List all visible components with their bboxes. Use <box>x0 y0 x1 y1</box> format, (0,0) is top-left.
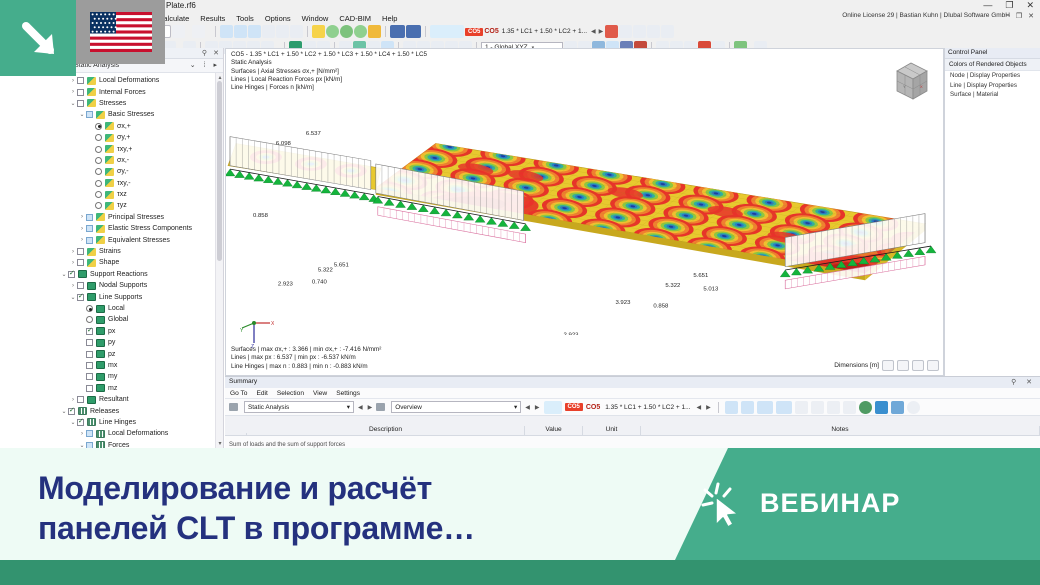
find-icon[interactable] <box>725 401 738 414</box>
surf-icon <box>96 236 105 244</box>
import-icon[interactable] <box>827 401 840 414</box>
select-objects-icon[interactable] <box>390 25 405 38</box>
control-panel-title-text: Control Panel <box>948 49 987 56</box>
tree-item[interactable]: px <box>58 326 215 337</box>
collapse-rows-icon[interactable] <box>776 401 792 414</box>
result-value-label: 3.923 <box>615 301 630 307</box>
summary-combination-prev-icon[interactable]: ◀ <box>696 404 703 411</box>
tree-item[interactable]: σx,- <box>58 155 215 166</box>
surf-icon <box>105 122 114 130</box>
tree-item-label: px <box>108 328 115 335</box>
tree-item-label: Global <box>108 316 128 323</box>
tree-radio[interactable] <box>95 202 102 209</box>
tree-item[interactable]: ›Elastic Stress Components <box>58 223 215 234</box>
tree-item-label: Internal Forces <box>99 89 146 96</box>
info-icon[interactable] <box>907 401 920 414</box>
document-window-controls[interactable]: − ❐ ✕ <box>1006 12 1036 20</box>
result-value-label: 2.923 <box>564 333 579 335</box>
tree-radio[interactable] <box>95 134 102 141</box>
tree-radio[interactable] <box>95 168 102 175</box>
tree-item-label: mx <box>108 362 117 369</box>
chevron-down-icon[interactable]: ⌄ <box>60 271 68 278</box>
export-icon[interactable] <box>811 401 824 414</box>
chevron-right-icon[interactable]: › <box>69 397 77 403</box>
summary-combination-expression[interactable]: 1.35 * LC1 + 1.50 * LC2 + 1... <box>603 404 692 411</box>
tree-item-label: Shape <box>99 259 119 266</box>
summary-combination-badge: CO5 <box>565 403 583 411</box>
viewport-footer-line-2: Line Hinges | max n : 0.883 | min n : -0… <box>231 363 381 371</box>
chevron-right-icon[interactable]: › <box>69 283 77 289</box>
home-view-icon[interactable] <box>897 360 909 371</box>
tree-item-label: σy,- <box>117 168 129 175</box>
tree-item-label: Equivalent Stresses <box>108 237 170 244</box>
tree-item[interactable]: ⌄Stresses <box>58 98 215 109</box>
surf-icon <box>96 225 105 233</box>
tree-radio[interactable] <box>95 123 102 130</box>
result-tables-icon[interactable] <box>368 25 381 38</box>
load-case-swatch[interactable] <box>544 401 562 414</box>
tree-item[interactable]: py <box>58 337 215 348</box>
printout-report-icon[interactable] <box>290 25 303 38</box>
overview-prev-icon[interactable]: ◀ <box>524 404 531 411</box>
tree-checkbox[interactable] <box>86 385 93 392</box>
summary-panel: Summary ⚲ ✕ Go To Edit Selection View Se… <box>225 376 1040 448</box>
svg-text:X: X <box>920 84 923 89</box>
analysis-next-icon[interactable]: ▶ <box>367 404 374 411</box>
overview-icon <box>376 403 385 411</box>
redo-icon[interactable] <box>192 25 205 38</box>
tree-item[interactable]: mx <box>58 360 215 371</box>
isolines-icon[interactable] <box>633 25 646 38</box>
sup-icon <box>96 361 105 369</box>
tree-item[interactable]: ⌄Basic Stresses <box>58 109 215 120</box>
sup-icon <box>87 293 96 301</box>
menu-item-options[interactable]: Options <box>265 14 291 23</box>
summary-col-value: Value <box>525 426 583 435</box>
viewport-header-line-0: CO5 - 1.35 * LC1 + 1.50 * LC2 + 1.50 * L… <box>231 51 427 59</box>
control-panel-item-node[interactable]: Node | Display Properties <box>945 71 1040 81</box>
banner-badge: ВЕБИНАР <box>760 488 900 519</box>
tree-item-label: Nodal Supports <box>99 282 147 289</box>
tree-item-label: my <box>108 373 117 380</box>
tree-item-label: Releases <box>90 408 119 415</box>
summary-menu-edit[interactable]: Edit <box>256 390 267 397</box>
toolbar-separator <box>425 26 426 37</box>
tree-item-label: Resultant <box>99 396 129 403</box>
axis-triad-icon: X Y Z <box>240 317 274 349</box>
surf-icon <box>96 213 105 221</box>
tree-checkbox[interactable] <box>86 339 93 346</box>
summary-menu-selection[interactable]: Selection <box>277 390 304 397</box>
tree-item[interactable]: ⌄Releases <box>58 405 215 416</box>
combination-expression[interactable]: 1.35 * LC1 + 1.50 * LC2 + 1... <box>500 28 589 35</box>
tree-checkbox[interactable] <box>86 111 93 118</box>
model-viewport[interactable]: CO5 - 1.35 * LC1 + 1.50 * LC2 + 1.50 * L… <box>225 48 944 376</box>
control-panel-title: Control Panel <box>945 48 1040 59</box>
results-navigator-tree[interactable]: ›Local Deformations›Internal Forces⌄Stre… <box>58 73 215 448</box>
chevron-right-icon[interactable]: › <box>78 214 86 220</box>
render-view-icon[interactable] <box>234 25 247 38</box>
tree-checkbox[interactable] <box>77 282 84 289</box>
fem-plate-render[interactable]: 6.5376.0980.8582.9230.7405.3225.6515.651… <box>226 87 943 335</box>
summary-menu-view[interactable]: View <box>313 390 327 397</box>
results-on-off-icon[interactable] <box>354 25 367 38</box>
summary-title: Summary <box>229 378 257 385</box>
tree-item[interactable]: σy,+ <box>58 132 215 143</box>
summary-combination-next-icon[interactable]: ▶ <box>705 404 712 411</box>
chevron-right-icon[interactable]: › <box>78 237 86 243</box>
chevron-right-icon[interactable]: › <box>69 78 77 84</box>
summary-window-controls[interactable]: ⚲ ✕ <box>1011 378 1036 386</box>
minimize-icon[interactable]: — <box>983 0 992 11</box>
tree-checkbox[interactable] <box>77 100 84 107</box>
model-view-icon[interactable] <box>220 25 233 38</box>
tree-item[interactable]: ›Local Deformations <box>58 75 215 86</box>
menu-item-help[interactable]: Help <box>382 14 397 23</box>
tree-item[interactable]: my <box>58 371 215 382</box>
result-value-label: 6.537 <box>306 131 321 137</box>
hinge-icon <box>96 441 105 448</box>
tree-item-label: σx,- <box>117 157 129 164</box>
tree-checkbox[interactable] <box>86 430 93 437</box>
tree-radio[interactable] <box>86 305 93 312</box>
tree-item[interactable]: ›Nodal Supports <box>58 280 215 291</box>
calculate-icon[interactable] <box>326 25 339 38</box>
summary-col-notes: Notes <box>641 426 1040 435</box>
tree-checkbox[interactable] <box>77 259 84 266</box>
combination-next-icon[interactable]: ▶ <box>598 28 605 35</box>
result-value-label: 0.858 <box>653 304 668 310</box>
tree-item[interactable]: ⌄Forces <box>58 440 215 449</box>
calculate-all-icon[interactable] <box>340 25 353 38</box>
overview-select[interactable]: Overview ▾ <box>391 401 521 413</box>
result-value-label: 0.858 <box>253 213 268 219</box>
banner-bottom-bar <box>0 560 1040 585</box>
tree-item[interactable]: ⌄Line Hinges <box>58 417 215 428</box>
tree-checkbox[interactable] <box>77 419 84 426</box>
chevron-down-icon[interactable]: ⌄ <box>69 100 77 107</box>
tree-checkbox[interactable] <box>86 362 93 369</box>
chevron-down-icon[interactable]: ⌄ <box>60 408 68 415</box>
hinge-icon <box>87 418 96 426</box>
tree-item-label: Line Supports <box>99 294 142 301</box>
menu-item-results[interactable]: Results <box>200 14 225 23</box>
overview-next-icon[interactable]: ▶ <box>534 404 541 411</box>
dimensions-label: Dimensions [m] <box>834 362 879 369</box>
toolbar-separator <box>718 402 719 413</box>
tree-item[interactable]: ›Local Deformations <box>58 428 215 439</box>
tree-item-label: Basic Stresses <box>108 111 154 118</box>
combination-prev-icon[interactable]: ◀ <box>590 28 597 35</box>
sup-icon <box>87 396 96 404</box>
tree-item[interactable]: τxz <box>58 189 215 200</box>
print-icon[interactable] <box>276 25 289 38</box>
tree-item-label: Support Reactions <box>90 271 148 278</box>
viewport-header-line-1: Static Analysis <box>231 59 427 67</box>
filter-icon[interactable] <box>619 25 632 38</box>
tree-checkbox[interactable] <box>86 351 93 358</box>
control-panel-item-surface[interactable]: Surface | Material <box>945 90 1040 100</box>
summary-menu-settings[interactable]: Settings <box>336 390 360 397</box>
undo-dropdown-icon[interactable] <box>186 25 191 38</box>
tree-item[interactable]: τxy,- <box>58 178 215 189</box>
flag-panel <box>76 0 165 64</box>
chevron-right-icon[interactable]: › <box>69 260 77 266</box>
maximize-icon[interactable]: ❐ <box>1005 0 1013 11</box>
window-controls[interactable]: — ❐ ✕ <box>983 0 1034 11</box>
result-value-label: 5.322 <box>318 268 333 274</box>
promo-banner: Моделирование и расчёт панелей CLT в про… <box>0 448 1040 585</box>
cursor-click-icon <box>700 480 752 528</box>
tree-item-label: τxy,+ <box>117 146 132 153</box>
screenshot-root: D Plate.rf6 — ❐ ✕ Calculate Results Tool… <box>0 0 1040 585</box>
tree-checkbox[interactable] <box>86 328 93 335</box>
tree-item-label: σy,+ <box>117 134 130 141</box>
scroll-down-icon[interactable]: ▾ <box>217 440 223 447</box>
print-table-icon[interactable] <box>843 401 856 414</box>
load-case-icon[interactable] <box>312 25 325 38</box>
surf-icon <box>87 77 96 85</box>
tree-item[interactable]: Local <box>58 303 215 314</box>
viewport-footer-text: Surfaces | max σx,+ : 3.366 | min σx,+ :… <box>231 346 381 371</box>
analysis-icon <box>229 403 238 411</box>
scrollbar-thumb[interactable] <box>217 81 222 261</box>
viewport-footer-line-1: Lines | max px : 6.537 | min px : -6.537… <box>231 354 381 362</box>
banner-title-line-1: Моделирование и расчёт <box>38 468 658 508</box>
navigator-scrollbar[interactable]: ▴ ▾ <box>215 73 223 448</box>
summary-menu-goto[interactable]: Go To <box>230 390 247 397</box>
banner-title-line-2: панелей CLT в программе… <box>38 508 658 548</box>
surf-icon <box>105 202 114 210</box>
control-panel-item-line[interactable]: Line | Display Properties <box>945 81 1040 91</box>
tree-item-label: τxy,- <box>117 180 131 187</box>
tree-item-label: pz <box>108 351 115 358</box>
toolbar-row-primary[interactable]: CO5 CO5 1.35 * LC1 + 1.50 * LC2 + 1... ◀… <box>158 23 1040 40</box>
tree-item[interactable]: ›Resultant <box>58 394 215 405</box>
summary-toolbar-row[interactable]: Static Analysis ▾ ◀ ▶ Overview ▾ ◀ ▶ CO5… <box>225 399 1040 416</box>
result-diagram-icon[interactable] <box>661 25 674 38</box>
tree-item-label: τyz <box>117 202 127 209</box>
surf-icon <box>105 134 114 142</box>
tree-radio[interactable] <box>95 180 102 187</box>
result-value-label: 5.322 <box>665 283 680 289</box>
sup-icon <box>96 373 105 381</box>
tree-checkbox[interactable] <box>77 396 84 403</box>
axis-label-x: X <box>271 321 274 327</box>
navigator-controls[interactable]: ⌄ ⁞ ▸ <box>190 61 220 69</box>
tree-item[interactable]: mz <box>58 383 215 394</box>
tree-item[interactable]: ›Equivalent Stresses <box>58 234 215 245</box>
sup-icon <box>78 270 87 278</box>
tree-item[interactable]: ⌄Support Reactions <box>58 269 215 280</box>
control-panel: Control Panel Colors of Rendered Objects… <box>944 48 1040 376</box>
summary-combination-name: CO5 <box>586 404 600 411</box>
close-icon[interactable]: ✕ <box>1026 0 1034 11</box>
solid-view-icon[interactable] <box>248 25 261 38</box>
tree-radio[interactable] <box>95 157 102 164</box>
result-value-label: 2.923 <box>278 282 293 288</box>
tree-item[interactable]: ›Principal Stresses <box>58 212 215 223</box>
tree-checkbox[interactable] <box>86 373 93 380</box>
smooth-results-icon[interactable] <box>647 25 660 38</box>
summary-table-header: Description Value Unit Notes <box>225 416 1040 436</box>
sup-icon <box>96 350 105 358</box>
summary-menu-bar[interactable]: Go To Edit Selection View Settings <box>225 388 1040 399</box>
viewport-header-line-2: Surfaces | Axial Stresses σx,+ [N/mm²] <box>231 68 427 76</box>
tree-item-label: Local <box>108 305 125 312</box>
tree-item-label: σx,+ <box>117 123 131 130</box>
expand-rows-icon[interactable] <box>757 401 773 414</box>
chevron-down-icon[interactable]: ⌄ <box>78 111 86 118</box>
hinge-icon <box>78 407 87 415</box>
tree-item-label: τxz <box>117 191 127 198</box>
tree-checkbox[interactable] <box>86 225 93 232</box>
redo-dropdown-icon[interactable] <box>206 25 211 38</box>
chevron-down-icon: ▾ <box>514 403 517 411</box>
tree-item-label: Strains <box>99 248 121 255</box>
tree-item[interactable]: Global <box>58 314 215 325</box>
deselect-objects-icon[interactable] <box>406 25 421 38</box>
toolbar-separator <box>307 26 308 37</box>
sup-icon <box>87 282 96 290</box>
analysis-type-value: Static Analysis <box>248 404 347 411</box>
tree-item-label: Elastic Stress Components <box>108 225 192 232</box>
surf-icon <box>105 145 114 153</box>
tree-checkbox[interactable] <box>68 271 75 278</box>
banner-title: Моделирование и расчёт панелей CLT в про… <box>38 468 658 548</box>
tree-item[interactable]: σy,- <box>58 166 215 177</box>
surf-icon <box>87 248 96 256</box>
tree-item[interactable]: ›Shape <box>58 257 215 268</box>
surf-icon <box>87 88 96 96</box>
result-value-label: 5.651 <box>334 263 349 269</box>
tree-checkbox[interactable] <box>77 77 84 84</box>
navigation-cube-icon[interactable]: Y X <box>887 57 935 109</box>
chevron-right-icon[interactable]: › <box>69 89 77 95</box>
navigator-panel: ⚲ ✕ Static Analysis ⌄ ⁞ ▸ ›Local Deforma… <box>58 48 224 448</box>
analysis-prev-icon[interactable]: ◀ <box>357 404 364 411</box>
result-value-label: 5.013 <box>703 287 718 293</box>
load-case-swatch[interactable] <box>430 25 464 38</box>
menu-item-window[interactable]: Window <box>302 14 329 23</box>
chevron-down-icon: ▾ <box>347 403 350 411</box>
tree-item-label: mz <box>108 385 117 392</box>
svg-text:Y: Y <box>903 84 906 89</box>
summary-col-description: Description <box>247 426 525 435</box>
tree-item[interactable]: ›Internal Forces <box>58 86 215 97</box>
surf-icon <box>96 111 105 119</box>
tree-checkbox[interactable] <box>77 248 84 255</box>
filter-results-icon[interactable] <box>741 401 754 414</box>
arrow-badge <box>0 0 76 76</box>
sup-icon <box>96 384 105 392</box>
surf-icon <box>105 179 114 187</box>
chevron-down-icon[interactable]: ⌄ <box>69 294 77 301</box>
overview-value: Overview <box>395 404 514 411</box>
sup-icon <box>96 327 105 335</box>
tree-radio[interactable] <box>95 191 102 198</box>
wire-view-icon[interactable] <box>262 25 275 38</box>
hinge-icon <box>96 430 105 438</box>
toolbar-separator <box>215 26 216 37</box>
analysis-type-select[interactable]: Static Analysis ▾ <box>244 401 354 413</box>
chevron-right-icon[interactable]: › <box>78 226 86 232</box>
tree-item[interactable]: σx,+ <box>58 121 215 132</box>
tree-item[interactable]: pz <box>58 348 215 359</box>
summary-col-unit: Unit <box>583 426 641 435</box>
us-flag-icon <box>90 12 152 52</box>
toolbar-separator <box>385 26 386 37</box>
list-view-icon[interactable] <box>912 360 924 371</box>
settings-table-icon[interactable] <box>891 401 904 414</box>
control-panel-section: Colors of Rendered Objects <box>945 59 1040 71</box>
pin-result-icon[interactable] <box>605 25 618 38</box>
filter-funnel-icon[interactable] <box>875 401 888 414</box>
tree-checkbox[interactable] <box>68 408 75 415</box>
result-value-label: 0.740 <box>312 280 327 286</box>
summary-col-index <box>225 433 247 435</box>
tree-item[interactable]: τxy,+ <box>58 143 215 154</box>
render-toggle-icon[interactable] <box>927 360 939 371</box>
menu-item-cad-bim[interactable]: CAD-BIM <box>339 14 371 23</box>
undo-icon[interactable] <box>172 25 185 38</box>
tree-item-label: Line Hinges <box>99 419 136 426</box>
chevron-right-icon[interactable]: › <box>78 431 86 437</box>
tree-item-label: Principal Stresses <box>108 214 164 221</box>
viewport-footer-line-0: Surfaces | max σx,+ : 3.366 | min σx,+ :… <box>231 346 381 354</box>
tree-checkbox[interactable] <box>86 237 93 244</box>
menu-item-tools[interactable]: Tools <box>236 14 254 23</box>
dimensions-bar[interactable]: Dimensions [m] <box>834 360 939 371</box>
scroll-up-icon[interactable]: ▴ <box>217 74 223 81</box>
tree-item[interactable]: ›Strains <box>58 246 215 257</box>
tree-item-label: Stresses <box>99 100 126 107</box>
combination-badge: CO5 <box>465 28 483 36</box>
tree-item[interactable]: ⌄Line Supports <box>58 291 215 302</box>
axis-label-y: Y <box>240 328 244 334</box>
surf-icon <box>87 259 96 267</box>
surf-icon <box>87 99 96 107</box>
tree-checkbox[interactable] <box>77 89 84 96</box>
viewport-header-line-3: Lines | Local Reaction Forces px [kN/m] <box>231 76 427 84</box>
tree-radio[interactable] <box>95 146 102 153</box>
sup-icon <box>96 339 105 347</box>
license-label: Online License 29 | Bastian Kuhn | Dluba… <box>842 12 1010 19</box>
chevron-right-icon[interactable]: › <box>69 249 77 255</box>
tree-item[interactable]: τyz <box>58 200 215 211</box>
result-value-label: 6.098 <box>276 141 291 147</box>
close-icon[interactable]: ✕ <box>213 49 219 57</box>
tree-checkbox[interactable] <box>86 214 93 221</box>
result-value-label: 5.651 <box>693 273 708 279</box>
tree-item-label: Local Deformations <box>99 77 159 84</box>
table-layout-icon[interactable] <box>795 401 808 414</box>
dimension-units-icon[interactable] <box>882 360 894 371</box>
surf-icon <box>105 168 114 176</box>
pin-icon[interactable]: ⚲ <box>202 49 207 57</box>
excel-export-icon[interactable] <box>859 401 872 414</box>
sup-icon <box>96 305 105 313</box>
combination-name: CO5 <box>484 28 498 35</box>
sup-icon <box>96 316 105 324</box>
tree-item-label: Local Deformations <box>108 430 168 437</box>
tree-radio[interactable] <box>86 316 93 323</box>
rfem-application-window: D Plate.rf6 — ❐ ✕ Calculate Results Tool… <box>0 0 1040 448</box>
surf-icon <box>105 191 114 199</box>
tree-checkbox[interactable] <box>77 294 84 301</box>
chevron-down-icon[interactable]: ⌄ <box>69 419 77 426</box>
summary-title-bar: Summary ⚲ ✕ <box>225 377 1040 388</box>
